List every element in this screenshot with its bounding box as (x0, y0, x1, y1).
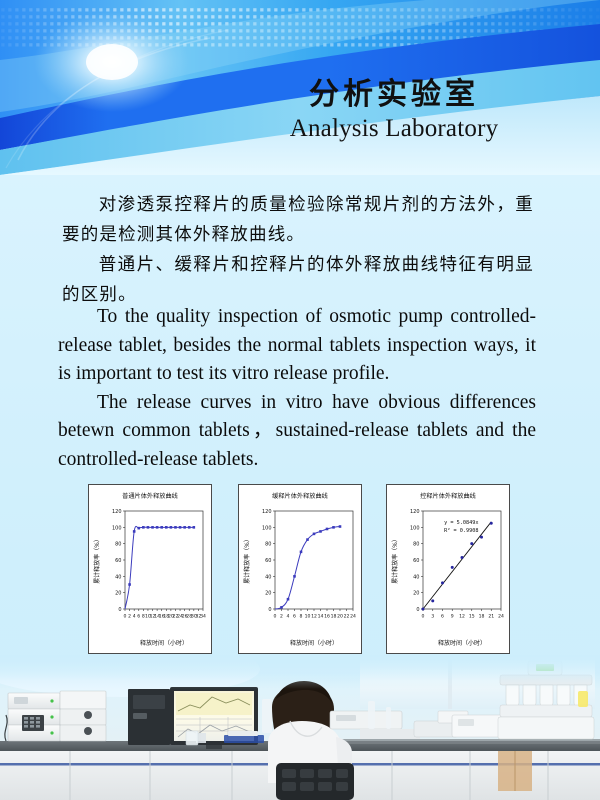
svg-text:0: 0 (416, 607, 419, 613)
chart-title: 普通片体外释放曲线 (122, 492, 178, 500)
page-title-cn: 分析实验室 (244, 78, 544, 113)
svg-text:4: 4 (133, 614, 136, 620)
svg-text:40: 40 (265, 574, 271, 580)
chart-title: 控释片体外释放曲线 (420, 492, 476, 500)
chart-ylabel: 累计释放率（%） (391, 536, 399, 584)
chart-common-tablet: 普通片体外释放曲线0204060801001200246810121416182… (88, 484, 212, 654)
svg-text:20: 20 (413, 591, 419, 597)
svg-text:80: 80 (265, 542, 271, 548)
svg-text:14: 14 (318, 614, 324, 620)
chart-xlabel: 释放时间（小时） (140, 639, 188, 647)
charts-row: 普通片体外释放曲线0204060801001200246810121416182… (0, 484, 600, 660)
svg-text:60: 60 (265, 558, 271, 564)
svg-text:80: 80 (115, 542, 121, 548)
english-paragraph-1: To the quality inspection of osmotic pum… (58, 303, 536, 389)
svg-text:34: 34 (200, 614, 206, 620)
svg-text:10: 10 (305, 614, 311, 620)
svg-text:0: 0 (124, 614, 127, 620)
svg-text:8: 8 (300, 614, 303, 620)
svg-text:0: 0 (118, 607, 121, 613)
chart-canvas-chart-1: 普通片体外释放曲线0204060801001200246810121416182… (89, 485, 211, 653)
svg-text:12: 12 (459, 614, 465, 620)
svg-text:100: 100 (112, 525, 122, 531)
svg-text:24: 24 (498, 614, 504, 620)
svg-text:0: 0 (274, 614, 277, 620)
svg-text:3: 3 (431, 614, 434, 620)
svg-text:120: 120 (262, 509, 272, 515)
svg-text:6: 6 (137, 614, 140, 620)
chart-annotation-r2: R² = 0.9908 (444, 528, 478, 534)
svg-text:4: 4 (287, 614, 290, 620)
svg-text:0: 0 (268, 607, 271, 613)
page-title-en: Analysis Laboratory (244, 114, 544, 144)
svg-text:20: 20 (265, 591, 271, 597)
svg-text:0: 0 (422, 614, 425, 620)
svg-text:20: 20 (115, 591, 121, 597)
english-paragraph-2: The release curves in vitro have obvious… (58, 389, 536, 475)
chinese-paragraph-2: 普通片、缓释片和控释片的体外释放曲线特征有明显的区别。 (62, 250, 534, 310)
poster-page: 分析实验室 Analysis Laboratory 对渗透泵控释片的质量检验除常… (0, 0, 600, 800)
svg-text:40: 40 (413, 574, 419, 580)
svg-text:18: 18 (479, 614, 485, 620)
svg-text:6: 6 (293, 614, 296, 620)
svg-text:100: 100 (410, 525, 420, 531)
svg-text:100: 100 (262, 525, 272, 531)
title-block: 分析实验室 Analysis Laboratory (244, 78, 544, 144)
english-body: To the quality inspection of osmotic pum… (58, 303, 536, 474)
chart-canvas-chart-2: 缓释片体外释放曲线0204060801001200246810121416182… (239, 485, 361, 653)
chart-annotation-equation: y = 5.0849x (444, 520, 478, 526)
svg-text:60: 60 (413, 558, 419, 564)
svg-text:120: 120 (112, 509, 122, 515)
svg-text:16: 16 (324, 614, 330, 620)
svg-text:22: 22 (344, 614, 350, 620)
svg-text:80: 80 (413, 542, 419, 548)
svg-text:21: 21 (488, 614, 494, 620)
analysis-laboratory-photo (0, 655, 600, 800)
chinese-body: 对渗透泵控释片的质量检验除常规片剂的方法外，重要的是检测其体外释放曲线。 普通片… (62, 190, 534, 310)
chart-title: 缓释片体外释放曲线 (272, 492, 328, 500)
svg-text:60: 60 (115, 558, 121, 564)
svg-text:9: 9 (451, 614, 454, 620)
svg-text:12: 12 (311, 614, 317, 620)
svg-text:2: 2 (128, 614, 131, 620)
chart-ylabel: 累计释放率（%） (243, 536, 251, 584)
chart-sustained-release-tablet: 缓释片体外释放曲线0204060801001200246810121416182… (238, 484, 362, 654)
chart-canvas-chart-3: 控释片体外释放曲线02040608010012003691215182124释放… (387, 485, 509, 653)
svg-text:6: 6 (441, 614, 444, 620)
svg-text:2: 2 (280, 614, 283, 620)
chart-xlabel: 释放时间（小时） (290, 639, 338, 647)
svg-text:20: 20 (337, 614, 343, 620)
svg-text:15: 15 (469, 614, 475, 620)
chart-xlabel: 释放时间（小时） (438, 639, 486, 647)
chart-ylabel: 累计释放率（%） (93, 536, 101, 584)
svg-text:24: 24 (350, 614, 356, 620)
chinese-paragraph-1: 对渗透泵控释片的质量检验除常规片剂的方法外，重要的是检测其体外释放曲线。 (62, 190, 534, 250)
svg-text:120: 120 (410, 509, 420, 515)
svg-text:18: 18 (331, 614, 337, 620)
svg-text:40: 40 (115, 574, 121, 580)
chart-controlled-release-tablet: 控释片体外释放曲线02040608010012003691215182124释放… (386, 484, 510, 654)
